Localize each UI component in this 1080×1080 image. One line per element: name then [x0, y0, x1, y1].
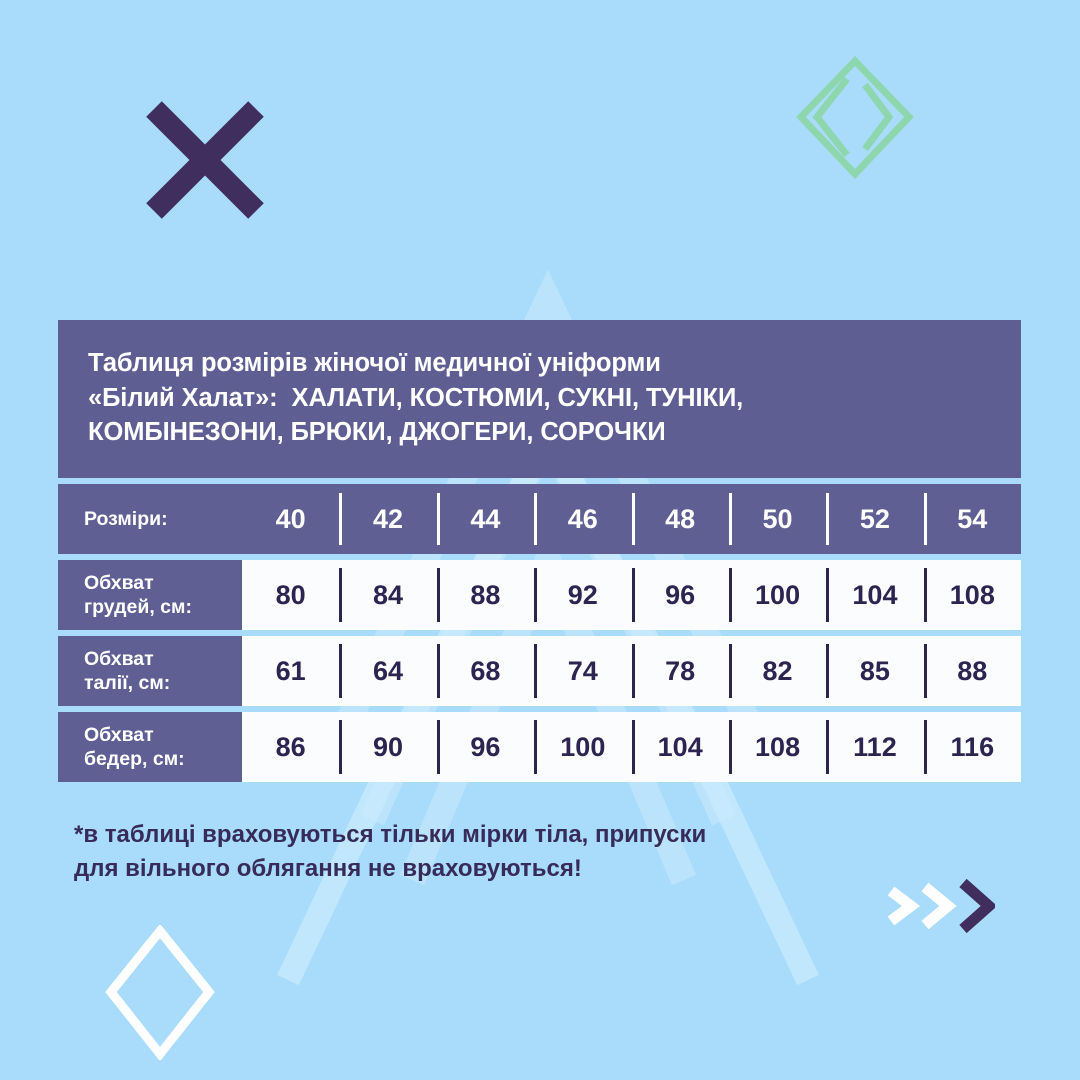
table-header-row: Розміри: 40 42 44 46 48 50 52 54: [58, 484, 1021, 554]
table-cell: 74: [534, 636, 631, 706]
table-row: Обхват бедер, см: 86 90 96 100 104 108 1…: [58, 712, 1021, 782]
nested-diamond-icon: [795, 55, 915, 180]
table-cell: 68: [437, 636, 534, 706]
row-label: Обхват грудей, см:: [58, 560, 242, 630]
x-mark-icon: [140, 95, 270, 225]
row-cells: 61 64 68 74 78 82 85 88: [242, 636, 1021, 706]
table-cell: 104: [632, 712, 729, 782]
table-cell: 96: [437, 712, 534, 782]
table-row: Обхват грудей, см: 80 84 88 92 96 100 10…: [58, 560, 1021, 630]
size-header-cell: 46: [534, 484, 631, 554]
row-label-line-1: Обхват: [84, 647, 242, 671]
table-cell: 116: [924, 712, 1021, 782]
footnote-line-2: для вільного облягання не враховуються!: [74, 852, 934, 886]
table-cell: 104: [826, 560, 923, 630]
page-title-line-1: Таблиця розмірів жіночої медичної уніфор…: [88, 346, 991, 381]
page-title-line-2: «Білий Халат»: ХАЛАТИ, КОСТЮМИ, СУКНІ, Т…: [88, 381, 991, 416]
size-header-cell: 48: [632, 484, 729, 554]
size-header-cell: 52: [826, 484, 923, 554]
table-cell: 78: [632, 636, 729, 706]
footnote-line-1: *в таблиці враховуються тільки мірки тіл…: [74, 818, 934, 852]
table-cell: 100: [729, 560, 826, 630]
table-cell: 86: [242, 712, 339, 782]
row-label: Обхват бедер, см:: [58, 712, 242, 782]
table-cell: 80: [242, 560, 339, 630]
row-label: Обхват талії, см:: [58, 636, 242, 706]
footnote: *в таблиці враховуються тільки мірки тіл…: [74, 818, 934, 886]
sizes-label: Розміри:: [58, 484, 242, 554]
table-cell: 88: [924, 636, 1021, 706]
row-label-line-1: Обхват: [84, 723, 242, 747]
size-header-cell: 40: [242, 484, 339, 554]
table-cell: 90: [339, 712, 436, 782]
row-label-line-1: Обхват: [84, 571, 242, 595]
table-cell: 88: [437, 560, 534, 630]
table-cell: 108: [729, 712, 826, 782]
row-label-line-2: талії, см:: [84, 671, 242, 695]
sizes-cells: 40 42 44 46 48 50 52 54: [242, 484, 1021, 554]
table-cell: 82: [729, 636, 826, 706]
size-header-cell: 54: [924, 484, 1021, 554]
table-cell: 61: [242, 636, 339, 706]
size-header-cell: 42: [339, 484, 436, 554]
table-cell: 64: [339, 636, 436, 706]
table-cell: 85: [826, 636, 923, 706]
table-cell: 84: [339, 560, 436, 630]
size-table: Таблиця розмірів жіночої медичної уніфор…: [58, 320, 1021, 782]
table-cell: 92: [534, 560, 631, 630]
table-cell: 108: [924, 560, 1021, 630]
row-cells: 86 90 96 100 104 108 112 116: [242, 712, 1021, 782]
row-label-line-2: бедер, см:: [84, 747, 242, 771]
table-row: Обхват талії, см: 61 64 68 74 78 82 85 8…: [58, 636, 1021, 706]
table-cell: 96: [632, 560, 729, 630]
table-cell: 112: [826, 712, 923, 782]
diamond-outline-icon: [105, 925, 215, 1060]
row-label-line-2: грудей, см:: [84, 595, 242, 619]
page-title-line-3: КОМБІНЕЗОНИ, БРЮКИ, ДЖОГЕРИ, СОРОЧКИ: [88, 415, 991, 450]
table-title-band: Таблиця розмірів жіночої медичної уніфор…: [58, 320, 1021, 478]
size-header-cell: 44: [437, 484, 534, 554]
row-cells: 80 84 88 92 96 100 104 108: [242, 560, 1021, 630]
size-header-cell: 50: [729, 484, 826, 554]
table-cell: 100: [534, 712, 631, 782]
